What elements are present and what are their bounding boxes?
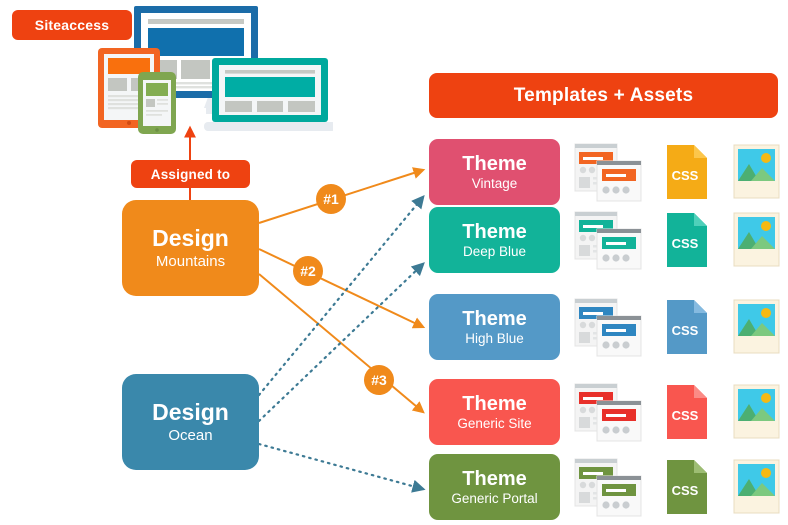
assigned-to-badge: Assigned to [131, 160, 250, 188]
templates-assets-header: Templates + Assets [429, 73, 778, 118]
design-ocean-subtitle: Ocean [168, 427, 212, 444]
theme-subtitle: Generic Site [457, 416, 531, 431]
template-asset[interactable] [572, 207, 644, 273]
connector-badge-1-label: #1 [323, 191, 339, 207]
css-label: CSS [672, 408, 699, 423]
css-file-icon: CSS [655, 207, 717, 273]
css-asset[interactable]: CSS [655, 139, 717, 205]
theme-row: Theme Vintage CSS [429, 139, 778, 205]
template-asset[interactable] [572, 294, 644, 360]
theme-title: Theme [462, 222, 526, 243]
template-asset[interactable] [572, 379, 644, 445]
browser-windows-template-icon [572, 207, 644, 273]
design-box-ocean[interactable]: Design Ocean [122, 374, 259, 470]
photo-image-icon [725, 139, 787, 205]
diagram-canvas: Siteaccess Assigned to Design Mountains … [0, 0, 788, 520]
browser-windows-template-icon [572, 454, 644, 520]
photo-image-icon [725, 379, 787, 445]
theme-subtitle: Generic Portal [451, 491, 537, 506]
design-box-mountains[interactable]: Design Mountains [122, 200, 259, 296]
theme-title: Theme [462, 394, 526, 415]
css-file-icon: CSS [655, 294, 717, 360]
connector-2-mountains-highblue [259, 249, 423, 327]
theme-subtitle: Vintage [472, 176, 518, 191]
theme-box-vintage[interactable]: Theme Vintage [429, 139, 560, 205]
theme-row: Theme High Blue CSS [429, 294, 778, 360]
theme-box-generic-portal[interactable]: Theme Generic Portal [429, 454, 560, 520]
css-label: CSS [672, 323, 699, 338]
theme-row: Theme Generic Portal [429, 454, 778, 520]
css-file-icon: CSS [655, 139, 717, 205]
theme-row: Theme Deep Blue CSS [429, 207, 778, 273]
browser-windows-template-icon [572, 379, 644, 445]
theme-box-high-blue[interactable]: Theme High Blue [429, 294, 560, 360]
connector-badge-2: #2 [293, 256, 323, 286]
connector-badge-2-label: #2 [300, 263, 316, 279]
image-asset[interactable] [725, 379, 787, 445]
smartphone-icon [138, 72, 176, 134]
templates-assets-label: Templates + Assets [514, 85, 693, 107]
css-asset[interactable]: CSS [655, 207, 717, 273]
css-label: CSS [672, 483, 699, 498]
photo-image-icon [725, 294, 787, 360]
theme-title: Theme [462, 154, 526, 175]
connector-badge-3-label: #3 [371, 372, 387, 388]
browser-windows-template-icon [572, 294, 644, 360]
template-asset[interactable] [572, 139, 644, 205]
siteaccess-badge-label: Siteaccess [35, 17, 109, 33]
photo-image-icon [725, 207, 787, 273]
image-asset[interactable] [725, 207, 787, 273]
laptop-icon [204, 58, 333, 131]
template-asset[interactable] [572, 454, 644, 520]
siteaccess-badge[interactable]: Siteaccess [12, 10, 132, 40]
css-label: CSS [672, 168, 699, 183]
design-ocean-title: Design [152, 400, 229, 425]
connector-badge-1: #1 [316, 184, 346, 214]
connector-ocean-deepblue [259, 264, 423, 421]
connector-3-mountains-genericsite [259, 274, 423, 412]
assigned-to-label: Assigned to [151, 167, 230, 182]
connector-ocean-vintage [259, 197, 423, 395]
css-file-icon: CSS [655, 454, 717, 520]
design-mountains-title: Design [152, 226, 229, 251]
theme-subtitle: Deep Blue [463, 244, 526, 259]
css-asset[interactable]: CSS [655, 454, 717, 520]
css-label: CSS [672, 236, 699, 251]
theme-title: Theme [462, 309, 526, 330]
theme-box-deep-blue[interactable]: Theme Deep Blue [429, 207, 560, 273]
connector-badge-3: #3 [364, 365, 394, 395]
browser-windows-template-icon [572, 139, 644, 205]
theme-row: Theme Generic Site [429, 379, 778, 445]
photo-image-icon [725, 454, 787, 520]
connector-ocean-genericportal [259, 444, 423, 489]
theme-title: Theme [462, 469, 526, 490]
css-asset[interactable]: CSS [655, 294, 717, 360]
theme-box-generic-site[interactable]: Theme Generic Site [429, 379, 560, 445]
image-asset[interactable] [725, 454, 787, 520]
image-asset[interactable] [725, 294, 787, 360]
image-asset[interactable] [725, 139, 787, 205]
css-file-icon: CSS [655, 379, 717, 445]
design-mountains-subtitle: Mountains [156, 253, 225, 270]
css-asset[interactable]: CSS [655, 379, 717, 445]
theme-subtitle: High Blue [465, 331, 524, 346]
